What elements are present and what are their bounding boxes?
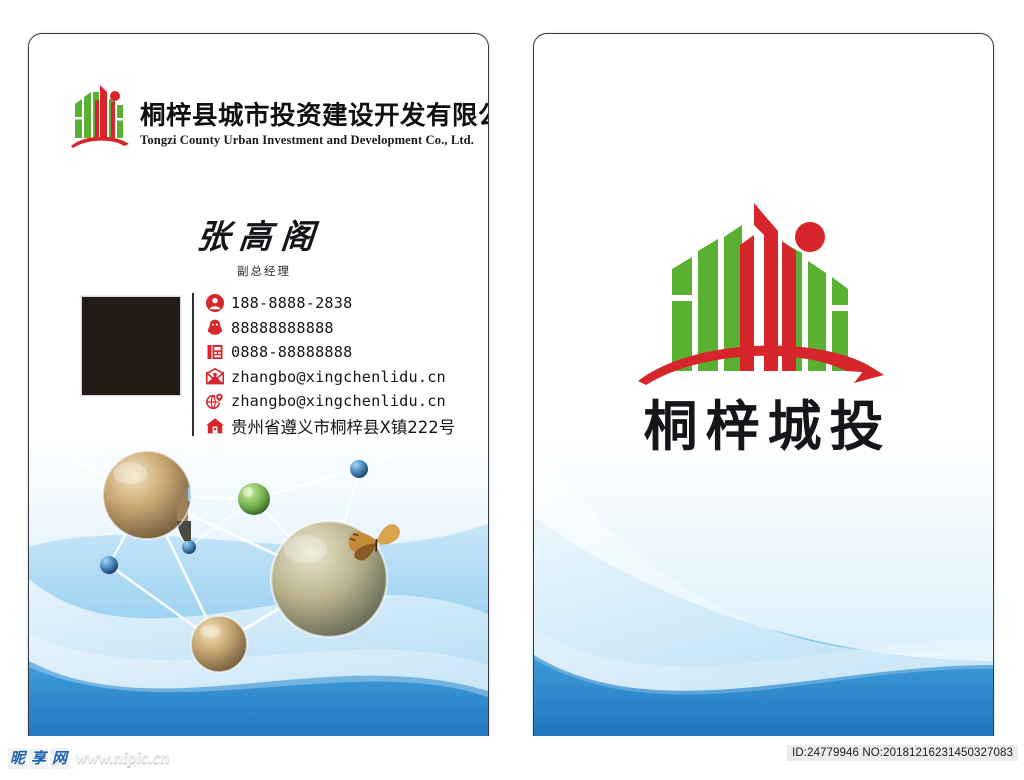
contact-row-address: 贵州省遵义市桐梓县X镇222号 bbox=[205, 414, 455, 439]
brand-name-cn: 桐梓城投 bbox=[636, 400, 892, 454]
contact-row-mobile: 188-8888-2838 bbox=[205, 291, 455, 316]
contact-value-address: 贵州省遵义市桐梓县X镇222号 bbox=[231, 414, 455, 438]
company-name-cn: 桐梓县城市投资建设开发有限公司 bbox=[140, 103, 489, 130]
portrait-photo-placeholder[interactable] bbox=[81, 296, 181, 396]
home-address-icon bbox=[205, 416, 225, 436]
envelope-mail-icon bbox=[205, 367, 225, 387]
contact-value-website: zhangbo@xingchenlidu.cn bbox=[231, 392, 446, 410]
business-card-back[interactable]: 桐梓城投 bbox=[533, 33, 994, 775]
person-name: 张高阁 bbox=[196, 220, 325, 253]
company-header: 桐梓县城市投资建设开发有限公司 Tongzi County Urban Inve… bbox=[69, 82, 489, 150]
poster-canvas: 桐梓县城市投资建设开发有限公司 Tongzi County Urban Inve… bbox=[0, 0, 1024, 780]
contact-value-qq: 88888888888 bbox=[231, 319, 334, 337]
person-block: 张高阁 副总经理 bbox=[197, 220, 323, 279]
globe-pin-web-icon bbox=[205, 391, 225, 411]
building-logo-icon bbox=[632, 199, 896, 404]
contact-list: 188-8888-2838 88888888888 0888-88888888 … bbox=[192, 291, 455, 438]
qq-penguin-icon bbox=[205, 318, 225, 338]
building-logo-icon bbox=[69, 82, 131, 150]
contact-row-website: zhangbo@xingchenlidu.cn bbox=[205, 389, 455, 414]
fax-phone-icon bbox=[205, 342, 225, 362]
contact-row-fax: 0888-88888888 bbox=[205, 340, 455, 365]
contact-value-mobile: 188-8888-2838 bbox=[231, 294, 352, 312]
company-name-en: Tongzi County Urban Investment and Devel… bbox=[140, 133, 489, 148]
person-mobile-icon bbox=[205, 293, 225, 313]
nipic-logo-char-1: 昵 bbox=[8, 748, 27, 769]
front-wave-artwork bbox=[29, 429, 488, 774]
back-wave-artwork bbox=[534, 429, 993, 774]
business-card-front[interactable]: 桐梓县城市投资建设开发有限公司 Tongzi County Urban Inve… bbox=[28, 33, 489, 775]
contact-row-email: zhangbo@xingchenlidu.cn bbox=[205, 365, 455, 390]
person-title: 副总经理 bbox=[237, 263, 323, 279]
contact-value-email: zhangbo@xingchenlidu.cn bbox=[231, 368, 446, 386]
back-brand-block: 桐梓城投 bbox=[534, 199, 993, 454]
contact-row-qq: 88888888888 bbox=[205, 316, 455, 341]
contact-value-fax: 0888-88888888 bbox=[231, 343, 352, 361]
